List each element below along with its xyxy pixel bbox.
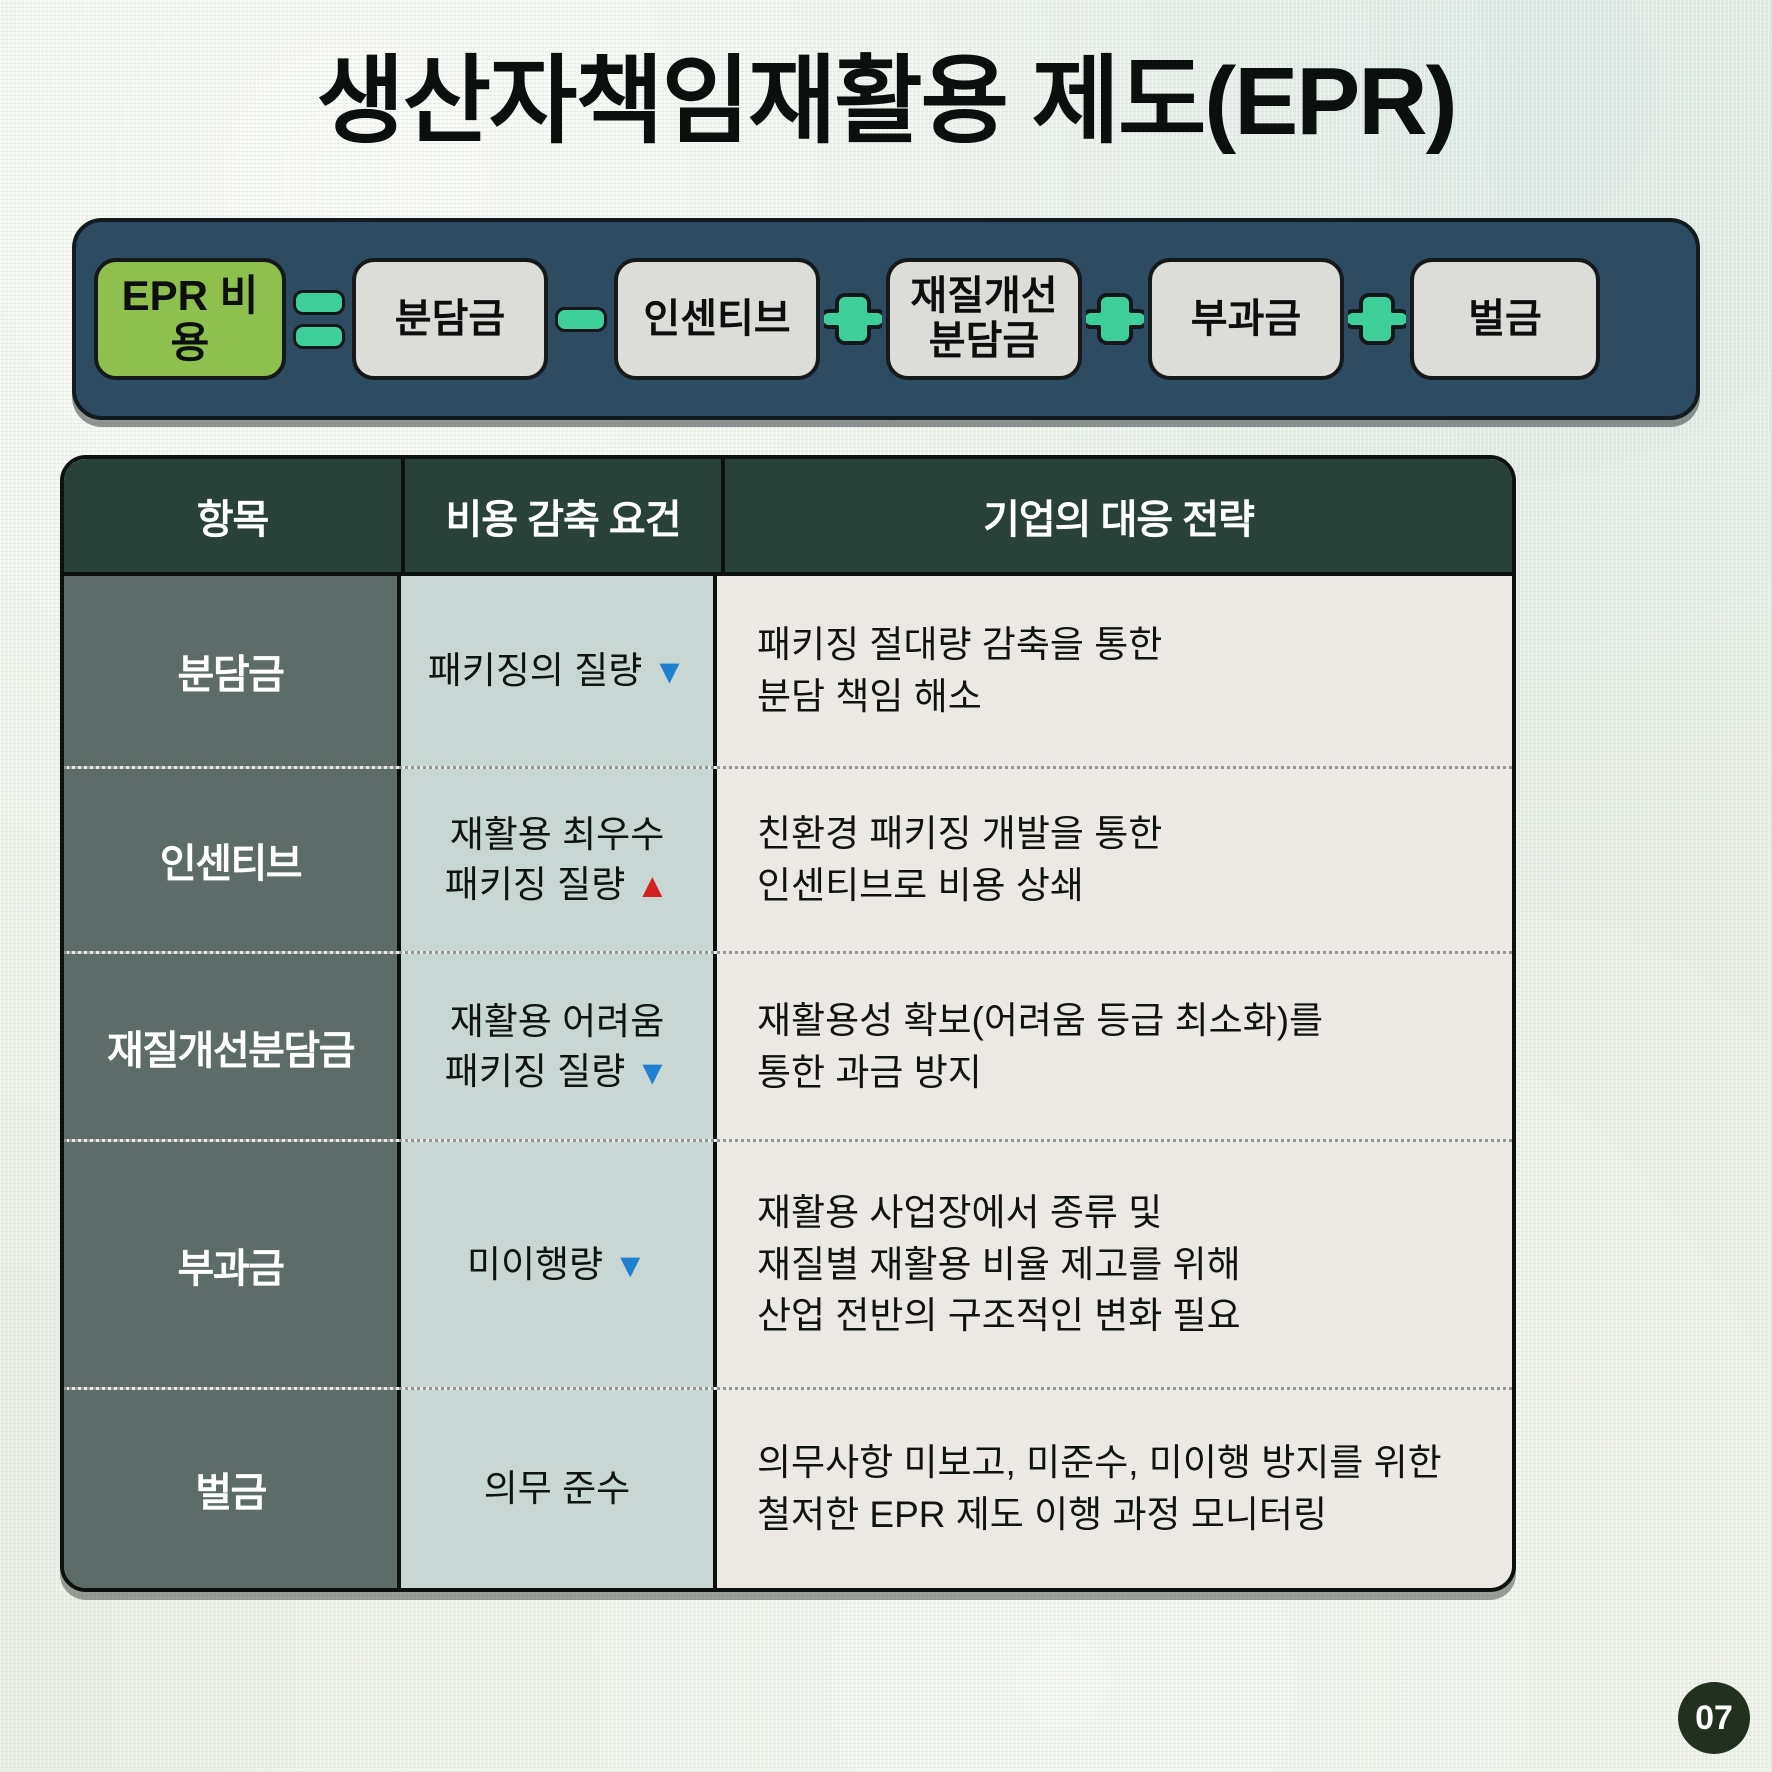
formula-term-material-improvement-fee: 재질개선 분담금 [886,258,1082,380]
strategy-line: 산업 전반의 구조적인 변화 필요 [757,1290,1241,1342]
formula-term-label: 벌금 [1468,297,1542,342]
plus-sign-icon [820,258,886,380]
requirement-line: 재활용 어려움 [445,997,669,1047]
table-row: 재질개선분담금 재활용 어려움 패키징 질량 ▼ 재활용성 확보(어려움 등급 … [64,954,1512,1142]
column-header-requirement: 비용 감축 요건 [405,459,725,572]
strategy-line: 재활용 사업장에서 종류 및 [757,1187,1241,1239]
cell-item: 분담금 [64,576,401,766]
strategy-line: 의무사항 미보고, 미준수, 미이행 방지를 위한 [757,1437,1442,1489]
formula-term-bundamgeum: 분담금 [352,258,548,380]
plus-sign-icon [1344,258,1410,380]
cell-requirement: 미이행량 ▼ [401,1142,717,1387]
equals-sign-icon [286,258,352,380]
strategy-table: 항목 비용 감축 요건 기업의 대응 전략 분담금 패키징의 질량 ▼ 패키징 … [60,455,1516,1592]
formula-term-label-line1: 재질개선 [910,274,1057,319]
arrow-down-icon: ▼ [636,1054,670,1092]
table-row: 부과금 미이행량 ▼ 재활용 사업장에서 종류 및 재질별 재활용 비율 제고를… [64,1142,1512,1390]
cell-item: 벌금 [64,1390,401,1588]
strategy-line: 철저한 EPR 제도 이행 과정 모니터링 [757,1489,1442,1541]
cell-item: 부과금 [64,1142,401,1387]
formula-term-levy: 부과금 [1148,258,1344,380]
requirement-line: 패키징 질량 [445,1051,625,1092]
formula-term-fine: 벌금 [1410,258,1600,380]
epr-cost-formula-bar: EPR 비용 분담금 인센티브 재질개선 분담금 [72,218,1700,420]
cell-requirement: 재활용 최우수 패키징 질량 ▲ [401,769,717,951]
formula-term-label-line2: 분담금 [910,319,1057,364]
formula-term-label: 분담금 [395,297,505,342]
cell-item: 재질개선분담금 [64,954,401,1139]
strategy-line: 인센티브로 비용 상쇄 [757,860,1162,912]
table-row: 벌금 의무 준수 의무사항 미보고, 미준수, 미이행 방지를 위한 철저한 E… [64,1390,1512,1588]
column-header-strategy: 기업의 대응 전략 [725,459,1512,572]
formula-term-label: 인센티브 [643,297,790,342]
requirement-line: 의무 준수 [484,1464,630,1514]
formula-result-label: EPR 비용 [106,272,274,366]
cell-requirement: 패키징의 질량 ▼ [401,576,717,766]
formula-result-chip: EPR 비용 [94,258,286,380]
plus-sign-icon [1082,258,1148,380]
arrow-down-icon: ▼ [653,653,687,691]
arrow-up-icon: ▲ [636,867,670,905]
page-title: 생산자책임재활용 제도(EPR) [0,42,1772,162]
requirement-line: 미이행량 [467,1244,603,1285]
cell-item: 인센티브 [64,769,401,951]
slide-page: 생산자책임재활용 제도(EPR) EPR 비용 분담금 인센티브 재질개선 분담… [0,0,1772,1772]
strategy-line: 재활용성 확보(어려움 등급 최소화)를 [757,995,1323,1047]
table-header-row: 항목 비용 감축 요건 기업의 대응 전략 [64,459,1512,576]
cell-strategy: 친환경 패키징 개발을 통한 인센티브로 비용 상쇄 [717,769,1512,951]
page-number-badge: 07 [1678,1682,1750,1754]
strategy-line: 패키징 절대량 감축을 통한 [757,619,1162,671]
cell-strategy: 재활용 사업장에서 종류 및 재질별 재활용 비율 제고를 위해 산업 전반의 … [717,1142,1512,1387]
cell-strategy: 의무사항 미보고, 미준수, 미이행 방지를 위한 철저한 EPR 제도 이행 … [717,1390,1512,1588]
cell-requirement: 재활용 어려움 패키징 질량 ▼ [401,954,717,1139]
cell-requirement: 의무 준수 [401,1390,717,1588]
column-header-item: 항목 [64,459,405,572]
table-row: 인센티브 재활용 최우수 패키징 질량 ▲ 친환경 패키징 개발을 통한 인센티… [64,769,1512,954]
strategy-line: 통한 과금 방지 [757,1047,1323,1099]
cell-strategy: 재활용성 확보(어려움 등급 최소화)를 통한 과금 방지 [717,954,1512,1139]
strategy-line: 분담 책임 해소 [757,671,1162,723]
strategy-line: 친환경 패키징 개발을 통한 [757,808,1162,860]
table-row: 분담금 패키징의 질량 ▼ 패키징 절대량 감축을 통한 분담 책임 해소 [64,576,1512,769]
requirement-line: 재활용 최우수 [445,810,669,860]
cell-strategy: 패키징 절대량 감축을 통한 분담 책임 해소 [717,576,1512,766]
minus-sign-icon [548,258,614,380]
strategy-line: 재질별 재활용 비율 제고를 위해 [757,1239,1241,1291]
formula-term-incentive: 인센티브 [614,258,820,380]
formula-term-label: 부과금 [1191,297,1301,342]
arrow-down-icon: ▼ [613,1247,647,1285]
requirement-line: 패키징 질량 [445,864,625,905]
requirement-line: 패키징의 질량 [428,650,643,691]
